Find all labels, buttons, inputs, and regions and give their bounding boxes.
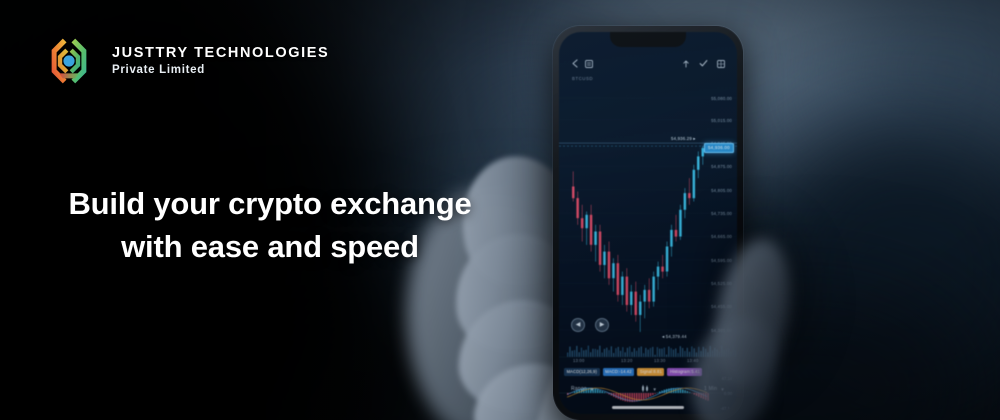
chart-nav-buttons: ◀ ▶ <box>571 318 609 332</box>
macd-series-label: Signal:8.81 <box>637 368 664 376</box>
home-indicator <box>612 406 684 409</box>
macd-label: MACD(12,26,9) <box>564 368 600 376</box>
grid-icon[interactable] <box>717 55 725 73</box>
high-price-marker: 54,936.29 ▸ <box>671 136 696 142</box>
range-selector[interactable]: Range ▼ <box>571 386 594 392</box>
time-tick: 13:30 <box>654 358 665 363</box>
app-top-bar <box>559 54 737 74</box>
time-tick: 13:20 <box>621 358 632 363</box>
brand-tagline: Private Limited <box>112 65 329 77</box>
price-tick: 54,805.00 <box>711 188 732 193</box>
phone-notch <box>610 32 686 47</box>
macd-series-label: MACD:-14.42 <box>603 368 635 376</box>
trading-pair-label: BTCUSD <box>572 76 593 81</box>
price-tick: 54,735.00 <box>711 211 732 216</box>
low-price-marker: ◂ 54,379.44 <box>662 334 687 340</box>
chevron-right-circle-icon[interactable]: ▶ <box>595 318 609 332</box>
share-arrow-icon[interactable] <box>682 55 690 73</box>
headline-line-1: Build your crypto exchange <box>68 186 471 221</box>
price-tick: 55,080.00 <box>711 96 732 101</box>
macd-legend: MACD(12,26,9)MACD:-14.42Signal:8.81Histo… <box>564 368 702 376</box>
price-tick: 55,015.00 <box>711 118 732 123</box>
page-title: Build your crypto exchange with ease and… <box>60 183 480 269</box>
time-tick: 13:00 <box>573 358 584 363</box>
price-tick: 54,595.00 <box>711 258 732 263</box>
price-tick: 54,875.00 <box>711 164 732 169</box>
headline-line-2: with ease and speed <box>60 226 480 269</box>
brand-logo[interactable]: JUSTTRY TECHNOLOGIES Private Limited <box>38 30 329 92</box>
chevron-left-icon[interactable] <box>571 55 578 73</box>
check-icon[interactable] <box>699 55 708 73</box>
range-label: Range <box>571 386 587 392</box>
candlestick-icon <box>641 384 649 395</box>
brand-name: JUSTTRY TECHNOLOGIES <box>112 46 329 61</box>
hexagon-chevron-logo-icon <box>38 30 100 92</box>
chevron-left-circle-icon[interactable]: ◀ <box>571 318 585 332</box>
current-price-badge: 54,936.00 <box>704 143 734 153</box>
price-tick: 54,665.00 <box>711 234 732 239</box>
chevron-down-icon: ▼ <box>652 387 657 392</box>
chart-type-selector[interactable]: ▼ <box>641 384 657 395</box>
list-icon[interactable] <box>585 55 593 73</box>
chevron-down-icon: ▼ <box>590 387 595 392</box>
hero-banner: JUSTTRY TECHNOLOGIES Private Limited Bui… <box>0 0 1000 420</box>
